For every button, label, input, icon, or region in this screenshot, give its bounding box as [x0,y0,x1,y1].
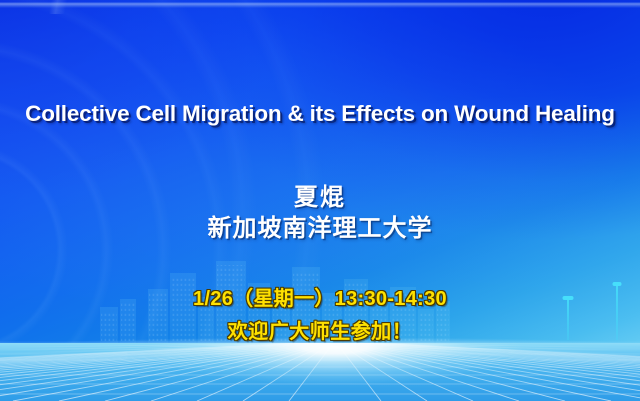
welcome-message: 欢迎广大师生参加！ [0,315,640,344]
speaker-name: 夏焜 [0,177,640,212]
poster-title: Collective Cell Migration & its Effects … [0,101,640,127]
speaker-affiliation: 新加坡南洋理工大学 [0,208,640,243]
seminar-poster: Collective Cell Migration & its Effects … [0,0,640,401]
event-datetime: 1/26（星期一）13:30-14:30 [0,282,640,311]
poster-text-content: Collective Cell Migration & its Effects … [0,0,640,401]
